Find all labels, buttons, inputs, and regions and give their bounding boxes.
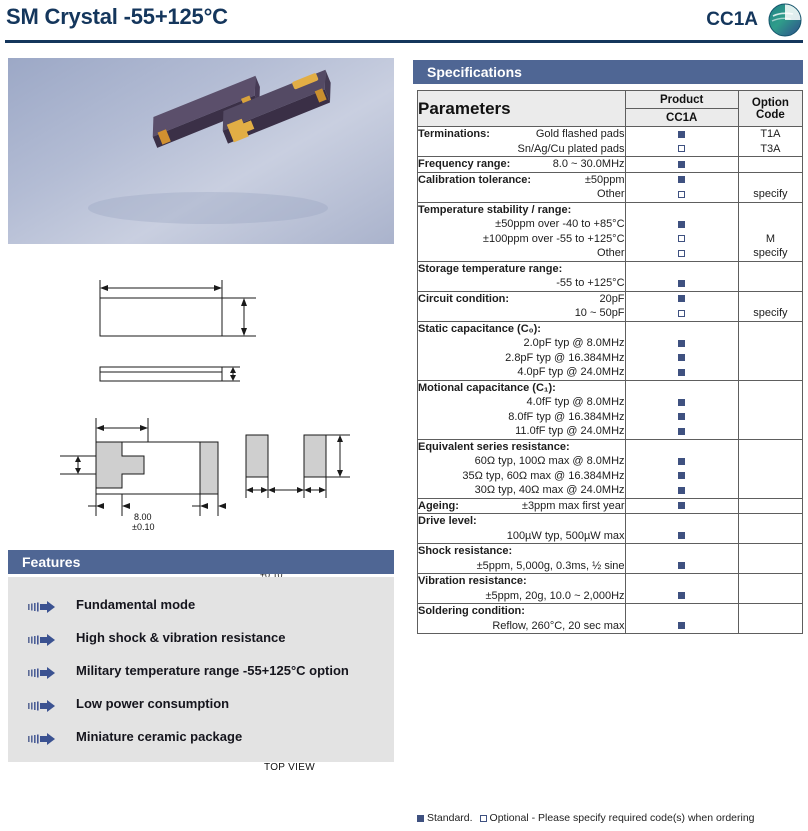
product-cell (625, 498, 738, 514)
arrow-bullet-icon (28, 633, 58, 645)
option-code-cell (738, 157, 802, 173)
table-row: Temperature stability / range:±50ppm ove… (418, 202, 803, 261)
standard-marker-icon (626, 365, 738, 380)
spacer (626, 604, 738, 619)
parameter-cell: Soldering condition:Reflow, 260°C, 20 se… (418, 604, 626, 634)
part-number: CC1A (706, 9, 758, 31)
option-code-value: specify (739, 187, 802, 202)
option-code-value (739, 173, 802, 188)
parameter-value: ±5ppm, 5,000g, 0.3ms, ½ sine (418, 559, 625, 574)
parameter-value: 60Ω typ, 100Ω max @ 8.0MHz (418, 454, 625, 469)
legend-standard: Standard. (427, 812, 473, 824)
standard-marker-icon (626, 410, 738, 425)
product-cell (625, 291, 738, 321)
standard-marker-icon (626, 499, 738, 514)
spacer (739, 604, 802, 619)
option-code-value (739, 276, 802, 291)
page-header: SM Crystal -55+125°C CC1A (0, 0, 808, 48)
option-code-cell (738, 514, 802, 544)
standard-marker-icon (626, 127, 738, 142)
standard-marker-icon (626, 589, 738, 604)
specifications-heading: Specifications (427, 64, 522, 80)
standard-marker-icon (626, 217, 738, 232)
spacer (626, 262, 738, 277)
parameter-line: Calibration tolerance:±50ppm (418, 173, 625, 188)
feature-label: Military temperature range -55+125°C opt… (76, 663, 349, 678)
feature-label: Fundamental mode (76, 597, 195, 612)
parameter-cell: Static capacitance (C₀):2.0pF typ @ 8.0M… (418, 321, 626, 380)
spacer (626, 322, 738, 337)
standard-marker-icon (626, 483, 738, 498)
title-divider (5, 40, 803, 43)
spacer (626, 203, 738, 218)
spacer (739, 203, 802, 218)
arrow-bullet-icon (28, 699, 58, 711)
option-code-value (739, 589, 802, 604)
option-code-cell (738, 574, 802, 604)
dim-length-tol: ±0.10 (132, 522, 154, 532)
arrow-bullet-icon (28, 666, 58, 678)
parameter-value: -55 to +125°C (418, 276, 625, 291)
optional-marker-icon (626, 187, 738, 202)
parameter-line: 10 ~ 50pF (418, 306, 625, 321)
spacer (739, 544, 802, 559)
parameter-cell: Temperature stability / range:±50ppm ove… (418, 202, 626, 261)
option-code-value (739, 365, 802, 380)
product-cell (625, 261, 738, 291)
feature-label: Low power consumption (76, 696, 229, 711)
option-code-value: T3A (739, 142, 802, 157)
parameter-line: Ageing:±3ppm max first year (418, 499, 625, 514)
product-cell (625, 202, 738, 261)
table-body: Terminations:Gold flashed padsSn/Ag/Cu p… (418, 127, 803, 634)
standard-marker-icon (417, 815, 424, 822)
option-code-value: specify (739, 246, 802, 261)
spacer (739, 440, 802, 455)
standard-marker-icon (626, 395, 738, 410)
table-row: Vibration resistance:±5ppm, 20g, 10.0 ~ … (418, 574, 803, 604)
parameter-value: 10 ~ 50pF (575, 306, 625, 321)
specifications-header-bar: Specifications (413, 60, 803, 84)
table-row: Soldering condition:Reflow, 260°C, 20 se… (418, 604, 803, 634)
column-header-product-sub: CC1A (625, 109, 738, 127)
parameter-line: Other (418, 187, 625, 202)
parameter-line: Frequency range:8.0 ~ 30.0MHz (418, 157, 625, 172)
parameter-value: Other (418, 246, 625, 261)
parameter-cell: Circuit condition:20pF10 ~ 50pF (418, 291, 626, 321)
table-row: Terminations:Gold flashed padsSn/Ag/Cu p… (418, 127, 803, 157)
standard-marker-icon (626, 157, 738, 172)
product-cell (625, 380, 738, 439)
parameter-name: Calibration tolerance: (418, 173, 531, 188)
parameter-value: ±100ppm over -55 to +125°C (418, 232, 625, 247)
table-row: Circuit condition:20pF10 ~ 50pF specify (418, 291, 803, 321)
specifications-table: Parameters Product Option Code CC1A Term… (417, 90, 803, 634)
optional-marker-icon (626, 232, 738, 247)
features-header-bar: Features (8, 550, 394, 574)
parameter-name: Shock resistance: (418, 544, 625, 559)
table-legend: Standard.Optional - Please specify requi… (417, 812, 755, 824)
table-row: Shock resistance:±5ppm, 5,000g, 0.3ms, ½… (418, 544, 803, 574)
option-code-value (739, 424, 802, 439)
product-cell (625, 439, 738, 498)
standard-marker-icon (626, 619, 738, 634)
table-row: Static capacitance (C₀):2.0pF typ @ 8.0M… (418, 321, 803, 380)
parameter-value: ±50ppm (585, 173, 625, 188)
spacer (626, 544, 738, 559)
product-cell (625, 544, 738, 574)
features-heading: Features (22, 554, 80, 570)
standard-marker-icon (626, 559, 738, 574)
option-code-value (739, 351, 802, 366)
option-code-value: specify (739, 306, 802, 321)
parameter-name: Motional capacitance (C₁): (418, 381, 625, 396)
option-code-cell: Mspecify (738, 202, 802, 261)
parameter-name: Circuit condition: (418, 292, 509, 307)
parameter-name: Vibration resistance: (418, 574, 625, 589)
parameter-value: 8.0fF typ @ 16.384MHz (418, 410, 625, 425)
parameter-value: 11.0fF typ @ 24.0MHz (418, 424, 625, 439)
standard-marker-icon (626, 276, 738, 291)
product-cell (625, 574, 738, 604)
arrow-bullet-icon (28, 600, 58, 612)
option-code-cell (738, 261, 802, 291)
parameter-line: Circuit condition:20pF (418, 292, 625, 307)
table-row: Motional capacitance (C₁):4.0fF typ @ 8.… (418, 380, 803, 439)
spacer (739, 574, 802, 589)
option-code-cell (738, 439, 802, 498)
table-header: Parameters Product Option Code CC1A (418, 91, 803, 127)
product-cell (625, 604, 738, 634)
option-code-cell (738, 604, 802, 634)
parameter-name: Drive level: (418, 514, 625, 529)
column-header-option: Option (739, 97, 802, 109)
table-row: Equivalent series resistance:60Ω typ, 10… (418, 439, 803, 498)
parameter-cell: Terminations:Gold flashed padsSn/Ag/Cu p… (418, 127, 626, 157)
spacer (739, 381, 802, 396)
table-row: Storage temperature range:-55 to +125°C (418, 261, 803, 291)
parameter-cell: Frequency range:8.0 ~ 30.0MHz (418, 157, 626, 173)
parameter-cell: Shock resistance:±5ppm, 5,000g, 0.3ms, ½… (418, 544, 626, 574)
parameter-value: Sn/Ag/Cu plated pads (518, 142, 625, 157)
product-cell (625, 127, 738, 157)
option-code-value (739, 157, 802, 172)
parameter-cell: Equivalent series resistance:60Ω typ, 10… (418, 439, 626, 498)
parameter-value: 35Ω typ, 60Ω max @ 16.384MHz (418, 469, 625, 484)
mechanical-drawings: 8.00 ±0.10 3.70 ±0.10 1.75 (max) 2.70 1.… (0, 250, 400, 540)
spacer (739, 514, 802, 529)
parameter-value: 100µW typ, 500µW max (418, 529, 625, 544)
parameter-value: ±5ppm, 20g, 10.0 ~ 2,000Hz (418, 589, 625, 604)
parameter-value: Gold flashed pads (536, 127, 625, 142)
parameter-line: Terminations:Gold flashed pads (418, 127, 625, 142)
table-row: Drive level:100µW typ, 500µW max (418, 514, 803, 544)
option-code-cell (738, 380, 802, 439)
spacer (626, 514, 738, 529)
option-code-value: T1A (739, 127, 802, 142)
option-code-value (739, 619, 802, 634)
parameter-cell: Motional capacitance (C₁):4.0fF typ @ 8.… (418, 380, 626, 439)
standard-marker-icon (626, 454, 738, 469)
column-header-option-code: Option Code (738, 91, 802, 127)
option-code-cell (738, 498, 802, 514)
parameter-cell: Calibration tolerance:±50ppmOther (418, 172, 626, 202)
parameter-cell: Storage temperature range:-55 to +125°C (418, 261, 626, 291)
parameter-name: Static capacitance (C₀): (418, 322, 625, 337)
standard-marker-icon (626, 351, 738, 366)
spacer (626, 381, 738, 396)
option-code-value (739, 217, 802, 232)
table-row: Ageing:±3ppm max first year (418, 498, 803, 514)
parameter-value: 2.8pF typ @ 16.384MHz (418, 351, 625, 366)
spacer (626, 574, 738, 589)
standard-marker-icon (626, 173, 738, 188)
option-code-value (739, 483, 802, 498)
feature-label: High shock & vibration resistance (76, 630, 286, 645)
parameter-name: Soldering condition: (418, 604, 625, 619)
legend-optional: Optional - Please specify required code(… (490, 812, 755, 824)
option-code-value: M (739, 232, 802, 247)
standard-marker-icon (626, 424, 738, 439)
parameter-name: Terminations: (418, 127, 490, 142)
standard-marker-icon (626, 292, 738, 307)
parameter-name: Temperature stability / range: (418, 203, 625, 218)
column-header-parameters: Parameters (418, 91, 626, 127)
parameter-name: Frequency range: (418, 157, 510, 172)
product-cell (625, 514, 738, 544)
parameter-value: 2.0pF typ @ 8.0MHz (418, 336, 625, 351)
optional-marker-icon (480, 815, 487, 822)
option-code-cell: specify (738, 291, 802, 321)
option-code-value (739, 454, 802, 469)
option-code-value (739, 469, 802, 484)
parameter-name: Storage temperature range: (418, 262, 625, 277)
parameter-value: ±3ppm max first year (522, 499, 625, 514)
parameter-cell: Vibration resistance:±5ppm, 20g, 10.0 ~ … (418, 574, 626, 604)
page-title: SM Crystal -55+125°C (6, 4, 228, 30)
parameter-value: Reflow, 260°C, 20 sec max (418, 619, 625, 634)
product-photo (8, 58, 394, 244)
parameter-value: ±50ppm over -40 to +85°C (418, 217, 625, 232)
option-code-value (739, 499, 802, 514)
product-cell (625, 321, 738, 380)
parameter-name: Equivalent series resistance: (418, 440, 625, 455)
product-cell (625, 157, 738, 173)
option-code-value (739, 529, 802, 544)
option-code-cell (738, 544, 802, 574)
option-code-cell: T1AT3A (738, 127, 802, 157)
optional-marker-icon (626, 306, 738, 321)
parameter-value: 8.0 ~ 30.0MHz (553, 157, 625, 172)
dim-length: 8.00 (134, 512, 152, 522)
column-header-product: Product (625, 91, 738, 109)
standard-marker-icon (626, 469, 738, 484)
company-logo-icon (767, 2, 803, 38)
top-view-label: TOP VIEW (264, 762, 315, 773)
option-code-value (739, 559, 802, 574)
parameter-line: Sn/Ag/Cu plated pads (418, 142, 625, 157)
parameter-cell: Ageing:±3ppm max first year (418, 498, 626, 514)
spacer (739, 322, 802, 337)
arrow-bullet-icon (28, 732, 58, 744)
standard-marker-icon (626, 336, 738, 351)
spacer (626, 440, 738, 455)
parameter-cell: Drive level:100µW typ, 500µW max (418, 514, 626, 544)
option-code-cell: specify (738, 172, 802, 202)
parameter-value: 4.0pF typ @ 24.0MHz (418, 365, 625, 380)
option-code-value (739, 395, 802, 410)
table-row: Calibration tolerance:±50ppmOther specif… (418, 172, 803, 202)
table-row: Frequency range:8.0 ~ 30.0MHz (418, 157, 803, 173)
product-cell (625, 172, 738, 202)
column-header-code: Code (739, 109, 802, 121)
parameter-value: Other (597, 187, 625, 202)
features-list: Fundamental modeHigh shock & vibration r… (8, 577, 394, 762)
option-code-value (739, 292, 802, 307)
option-code-value (739, 410, 802, 425)
option-code-value (739, 336, 802, 351)
feature-label: Miniature ceramic package (76, 729, 242, 744)
parameter-name: Ageing: (418, 499, 459, 514)
optional-marker-icon (626, 142, 738, 157)
spacer (739, 262, 802, 277)
standard-marker-icon (626, 529, 738, 544)
parameter-value: 4.0fF typ @ 8.0MHz (418, 395, 625, 410)
parameter-value: 20pF (599, 292, 624, 307)
parameter-value: 30Ω typ, 40Ω max @ 24.0MHz (418, 483, 625, 498)
option-code-cell (738, 321, 802, 380)
optional-marker-icon (626, 246, 738, 261)
